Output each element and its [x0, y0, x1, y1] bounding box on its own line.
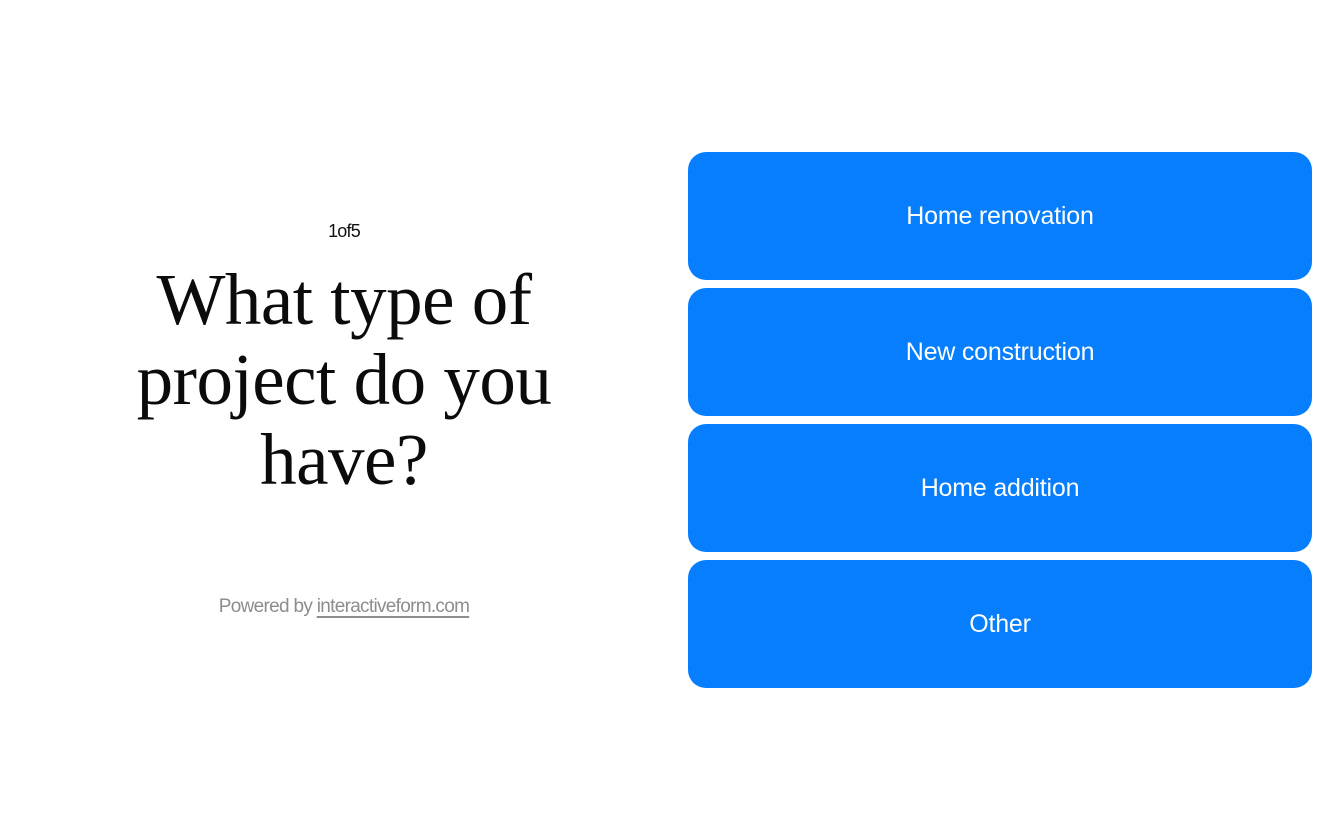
- option-label: Home renovation: [906, 202, 1093, 231]
- step-counter: 1of5: [328, 222, 360, 240]
- form-page: 1of5 What type of project do you have? P…: [0, 0, 1344, 840]
- option-button-other[interactable]: Other: [688, 560, 1312, 688]
- option-label: Home addition: [921, 474, 1080, 503]
- option-button-new-construction[interactable]: New construction: [688, 288, 1312, 416]
- answer-options-list: Home renovation New construction Home ad…: [688, 152, 1312, 688]
- question-panel: 1of5 What type of project do you have? P…: [80, 0, 608, 840]
- option-label: New construction: [906, 338, 1095, 367]
- question-heading: What type of project do you have?: [129, 260, 559, 500]
- powered-by-attribution: Powered by interactiveform.com: [219, 596, 469, 618]
- option-label: Other: [969, 610, 1031, 639]
- powered-by-label: Powered by: [219, 596, 312, 617]
- interactiveform-link[interactable]: interactiveform.com: [317, 596, 469, 617]
- option-button-home-addition[interactable]: Home addition: [688, 424, 1312, 552]
- option-button-home-renovation[interactable]: Home renovation: [688, 152, 1312, 280]
